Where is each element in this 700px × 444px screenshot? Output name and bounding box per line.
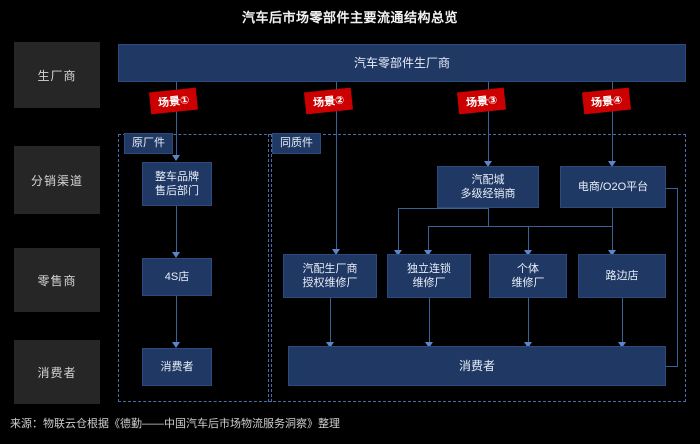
scene-tag-2: 场景②: [304, 88, 353, 115]
stage-label-consumer: 消费者: [14, 340, 100, 404]
node-chain-repair-line2: 维修厂: [413, 276, 446, 290]
connector-chain-to-consumer: [429, 298, 430, 344]
node-brand-aftersales-line1: 整车品牌: [155, 170, 199, 184]
node-parts-city-dealers[interactable]: 汽配城 多级经销商: [437, 166, 539, 208]
connector-ecommerce-rail-side: [677, 188, 678, 366]
connector-bus-to-roadside: [612, 226, 613, 252]
connector-brand-to-4s: [176, 206, 177, 254]
node-brand-aftersales[interactable]: 整车品牌 售后部门: [142, 162, 212, 206]
connector-auth-repair-to-consumer: [330, 298, 331, 344]
node-chain-repair[interactable]: 独立连锁 维修厂: [387, 254, 471, 298]
node-individual-repair-line1: 个体: [517, 262, 539, 276]
node-parts-city-line1: 汽配城: [472, 173, 505, 187]
stage-label-manufacturer: 生厂商: [14, 42, 100, 108]
node-4s-store-label: 4S店: [165, 270, 189, 284]
stage-label-distribution: 分销渠道: [14, 146, 100, 214]
stage-label-retailer: 零售商: [14, 248, 100, 312]
scene-tag-4: 场景④: [582, 88, 631, 115]
node-consumer-oem-label: 消费者: [161, 360, 194, 374]
node-consumer-oem[interactable]: 消费者: [142, 348, 212, 386]
node-ecommerce-o2o[interactable]: 电商/O2O平台: [560, 166, 666, 208]
region-label-oem-parts: 原厂件: [124, 133, 173, 154]
node-parts-manufacturer[interactable]: 汽车零部件生厂商: [118, 44, 686, 82]
page-title: 汽车后市场零部件主要流通结构总览: [0, 7, 700, 26]
connector-roadside-to-consumer: [622, 298, 623, 344]
region-label-equivalent-parts: 同质件: [272, 133, 321, 154]
node-individual-repair[interactable]: 个体 维修厂: [489, 254, 567, 298]
connector-parts-city-left-jog: [398, 208, 488, 209]
scene-tag-1: 场景①: [149, 88, 198, 115]
connector-ecommerce-rail-bottom: [664, 366, 678, 367]
node-chain-repair-line1: 独立连锁: [407, 262, 451, 276]
connector-parts-city-to-chain: [398, 208, 399, 252]
node-ecommerce-o2o-label: 电商/O2O平台: [578, 180, 648, 194]
connector-bus-to-indiv: [528, 226, 529, 252]
node-parts-city-line2: 多级经销商: [461, 187, 516, 201]
node-individual-repair-line2: 维修厂: [512, 276, 545, 290]
node-consumer-main-label: 消费者: [459, 359, 495, 373]
node-roadside-store[interactable]: 路边店: [578, 254, 666, 298]
connector-parts-city-down: [488, 208, 489, 226]
diagram-canvas: 汽车后市场零部件主要流通结构总览 生厂商 分销渠道 零售商 消费者 汽车零部件生…: [0, 0, 700, 444]
arrow-top-to-brand: [172, 155, 180, 161]
source-note: 来源：物联云仓根据《德勤——中国汽车后市场物流服务洞察》整理: [10, 415, 340, 431]
node-parts-manufacturer-label: 汽车零部件生厂商: [354, 56, 450, 70]
connector-bus-to-chain: [428, 226, 429, 252]
scene-tag-3: 场景③: [457, 88, 506, 115]
node-authorized-repair-line1: 汽配生厂商: [303, 262, 358, 276]
node-authorized-repair[interactable]: 汽配生厂商 授权维修厂: [283, 254, 377, 298]
connector-indiv-to-consumer: [528, 298, 529, 344]
connector-4s-to-consumer: [176, 296, 177, 344]
connector-retail-bus: [428, 226, 612, 227]
node-brand-aftersales-line2: 售后部门: [155, 184, 199, 198]
node-authorized-repair-line2: 授权维修厂: [303, 276, 358, 290]
connector-ecommerce-down: [612, 208, 613, 226]
node-consumer-main[interactable]: 消费者: [288, 346, 666, 386]
node-roadside-store-label: 路边店: [606, 269, 639, 283]
node-4s-store[interactable]: 4S店: [142, 258, 212, 296]
